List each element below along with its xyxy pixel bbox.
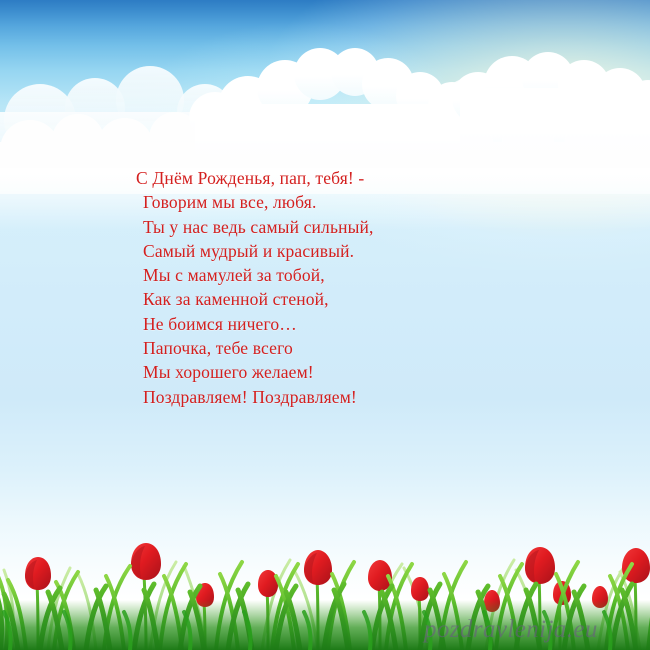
poem-line: Мы с мамулей за тобой, xyxy=(143,263,556,287)
poem-block: С Днём Рожденья, пап, тебя! - Говорим мы… xyxy=(136,166,556,409)
poem-line: Ты у нас ведь самый сильный, xyxy=(143,215,556,239)
poem-line: Самый мудрый и красивый. xyxy=(143,239,556,263)
poem-line: Говорим мы все, любя. xyxy=(143,190,556,214)
poem-line: С Днём Рожденья, пап, тебя! - xyxy=(136,166,556,190)
poem-line: Не боимся ничего… xyxy=(143,312,556,336)
poem-line: Как за каменной стеной, xyxy=(143,287,556,311)
poem-line: Папочка, тебе всего xyxy=(143,336,556,360)
poem-line: Мы хорошего желаем! xyxy=(143,360,556,384)
site-watermark: pozdravlenija.eu xyxy=(424,616,598,644)
greeting-card: С Днём Рожденья, пап, тебя! - Говорим мы… xyxy=(0,0,650,650)
poem-line: Поздравляем! Поздравляем! xyxy=(143,385,556,409)
